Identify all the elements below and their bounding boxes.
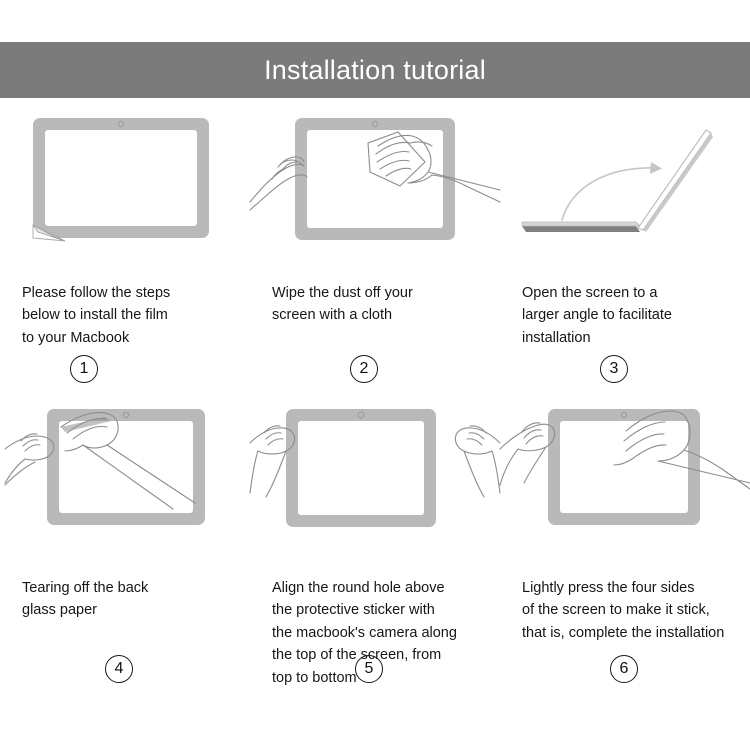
hands-pressing-film-edges-onto-screen-icon (500, 405, 750, 545)
two-hands-aligning-film-over-screen-icon (250, 405, 500, 545)
step-4-number-badge: 4 (105, 655, 133, 683)
tutorial-step-6: Lightly press the four sides of the scre… (500, 405, 750, 705)
step-6-number-badge: 6 (610, 655, 638, 683)
step-1-number-badge: 1 (70, 355, 98, 383)
step-5-number-badge: 5 (355, 655, 383, 683)
step-2-number-badge: 2 (350, 355, 378, 383)
tutorial-step-3: Open the screen to a larger angle to fac… (500, 110, 750, 405)
tutorial-step-1: Please follow the steps below to install… (0, 110, 250, 405)
step-1-illustration (10, 110, 240, 260)
step-3-number-badge: 3 (600, 355, 628, 383)
step-6-caption: Lightly press the four sides of the scre… (510, 577, 740, 644)
header-banner: Installation tutorial (0, 42, 750, 98)
tutorial-step-5: Align the round hole above the protectiv… (250, 405, 500, 705)
tutorial-step-2: Wipe the dust off your screen with a clo… (250, 110, 500, 405)
page-title: Installation tutorial (264, 57, 486, 84)
step-1-caption: Please follow the steps below to install… (10, 282, 240, 349)
step-3-caption: Open the screen to a larger angle to fac… (510, 282, 740, 349)
hands-tearing-back-paper-off-film-icon (5, 405, 245, 545)
step-4-illustration (10, 405, 240, 555)
tutorial-steps-grid: Please follow the steps below to install… (0, 110, 750, 750)
tutorial-step-4: Tearing off the back glass paper 4 (0, 405, 250, 705)
step-6-illustration (510, 405, 740, 555)
step-2-caption: Wipe the dust off your screen with a clo… (260, 282, 490, 327)
step-3-illustration (510, 110, 740, 260)
macbook-screen-with-peeling-film-corner-icon (25, 110, 225, 260)
hand-wiping-screen-with-cloth-icon (250, 110, 500, 260)
step-4-caption: Tearing off the back glass paper (10, 577, 240, 622)
step-5-illustration (260, 405, 490, 555)
laptop-side-view-opening-angle-arrow-icon (510, 110, 740, 260)
step-2-illustration (260, 110, 490, 260)
